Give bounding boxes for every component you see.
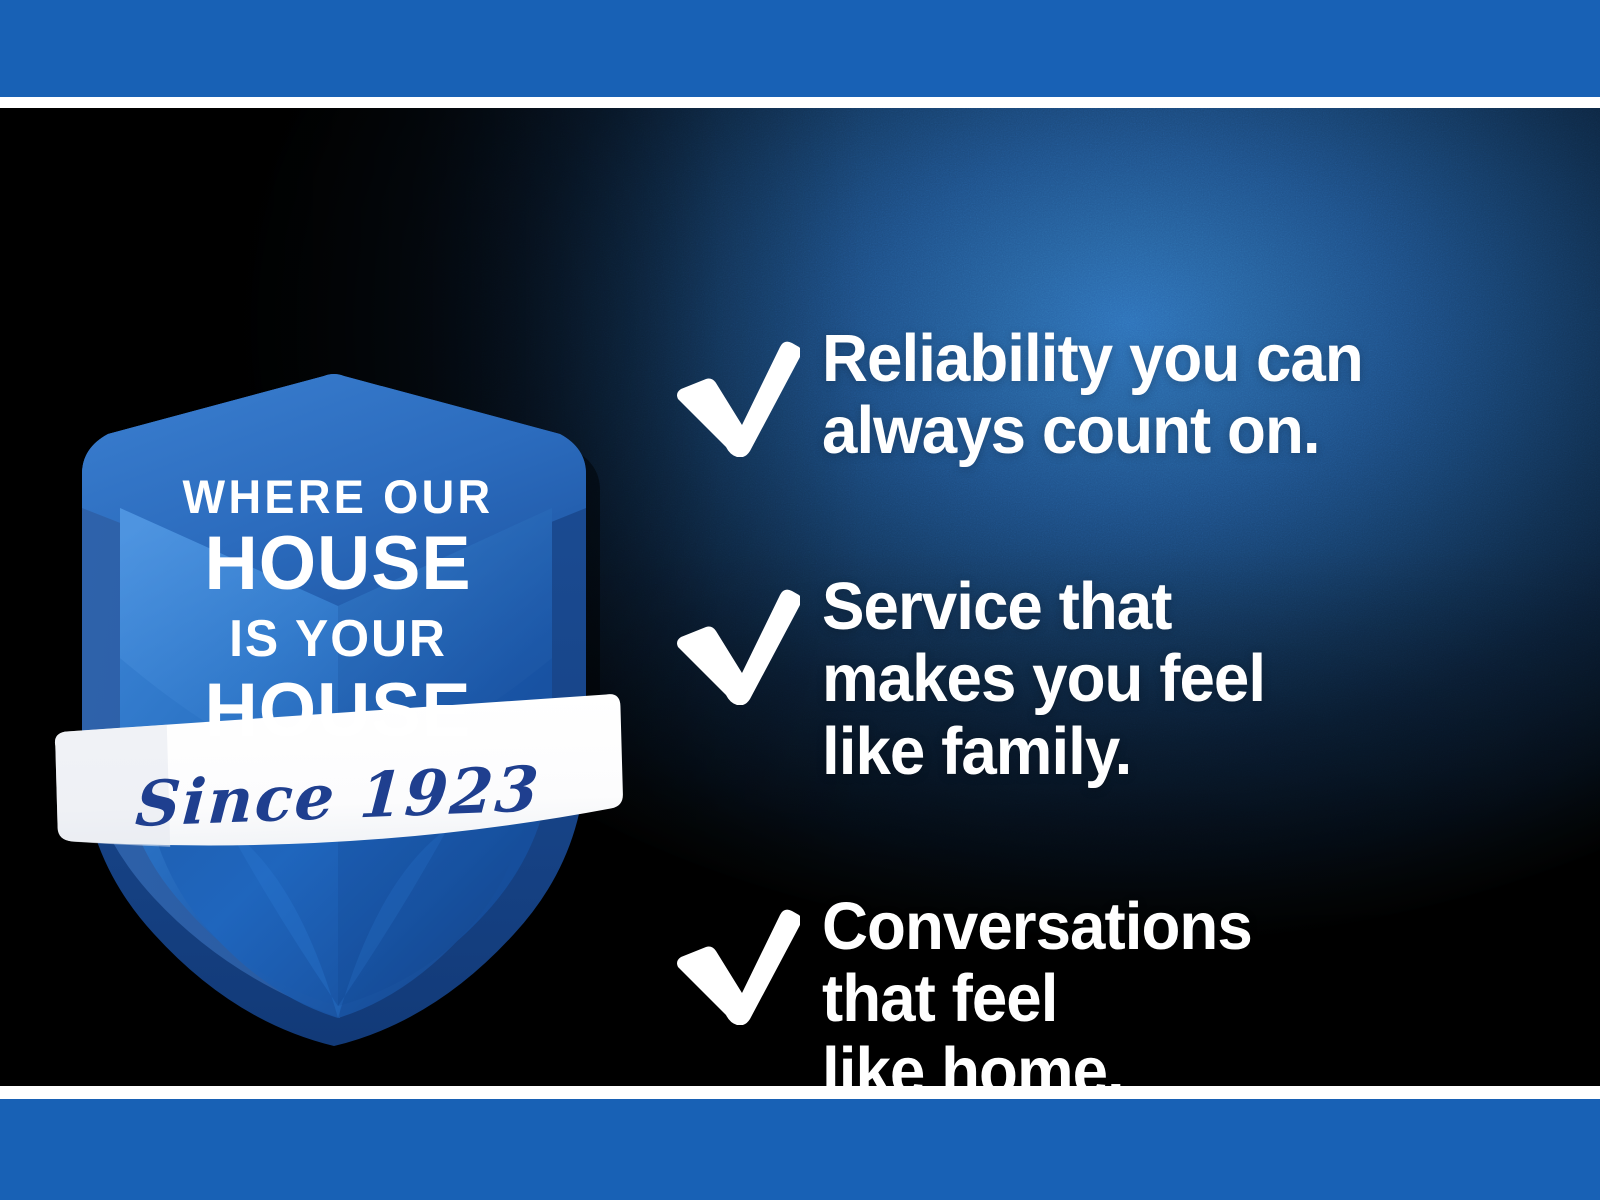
benefit-line: makes you feel <box>822 643 1265 715</box>
bottom-brand-bar <box>0 1099 1600 1200</box>
top-divider-stripe <box>0 97 1600 108</box>
checkmark-icon <box>672 891 822 1025</box>
benefit-line: like home. <box>822 1036 1252 1086</box>
benefit-line: Service that <box>822 571 1265 643</box>
benefits-list: Reliability you can always count on. Ser… <box>672 216 1572 1086</box>
benefit-line: that feel <box>822 963 1252 1035</box>
benefit-line: always count on. <box>822 395 1363 467</box>
benefit-item-2: Service that makes you feel like family. <box>672 571 1288 788</box>
benefit-line: Reliability you can <box>822 323 1363 395</box>
benefit-item-1: Reliability you can always count on. <box>672 323 1391 468</box>
shield-graphic <box>48 358 628 1048</box>
benefit-text-1: Reliability you can always count on. <box>822 323 1363 468</box>
content-stage: WHERE OUR HOUSE IS YOUR HOUSE Since 1923… <box>0 108 1600 1086</box>
company-shield-badge: WHERE OUR HOUSE IS YOUR HOUSE Since 1923 <box>48 358 628 1048</box>
promo-graphic: WHERE OUR HOUSE IS YOUR HOUSE Since 1923… <box>0 0 1600 1200</box>
checkmark-icon <box>672 323 822 457</box>
bottom-divider-stripe <box>0 1086 1600 1099</box>
benefit-line: like family. <box>822 716 1265 788</box>
benefit-line: Conversations <box>822 891 1252 963</box>
benefit-item-3: Conversations that feel like home. <box>672 891 1274 1086</box>
checkmark-icon <box>672 571 822 705</box>
benefit-text-2: Service that makes you feel like family. <box>822 571 1265 788</box>
benefit-text-3: Conversations that feel like home. <box>822 891 1252 1086</box>
top-brand-bar <box>0 0 1600 97</box>
